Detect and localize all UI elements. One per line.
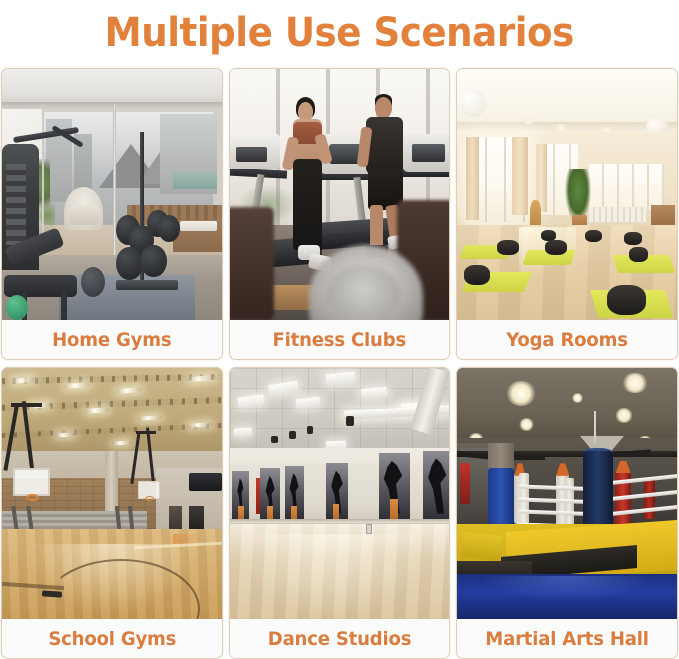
- martial-arts-hall-illustration: [457, 368, 677, 619]
- scenario-label-school-gyms: School Gyms: [2, 619, 222, 658]
- scenario-label-text: School Gyms: [48, 628, 176, 650]
- page-header: Multiple Use Scenarios: [0, 0, 679, 66]
- scenario-card-yoga-rooms[interactable]: Yoga Rooms: [456, 68, 678, 360]
- scenario-grid: Home Gyms: [0, 68, 679, 659]
- fitness-club-illustration: [230, 69, 450, 320]
- scenario-card-martial-arts-hall[interactable]: Martial Arts Hall: [456, 367, 678, 659]
- scenario-photo-martial-arts-hall: [457, 368, 677, 619]
- scenario-label-home-gyms: Home Gyms: [2, 320, 222, 359]
- scenario-card-dance-studios[interactable]: Dance Studios: [229, 367, 451, 659]
- page-title: Multiple Use Scenarios: [105, 13, 574, 53]
- scenario-card-school-gyms[interactable]: School Gyms: [1, 367, 223, 659]
- yoga-room-illustration: [457, 69, 677, 320]
- scenario-photo-home-gyms: [2, 69, 222, 320]
- scenario-card-home-gyms[interactable]: Home Gyms: [1, 68, 223, 360]
- scenario-label-text: Martial Arts Hall: [485, 628, 648, 650]
- scenario-label-fitness-clubs: Fitness Clubs: [230, 320, 450, 359]
- dance-studio-illustration: [230, 368, 450, 619]
- scenarios-page: Multiple Use Scenarios: [0, 0, 679, 659]
- scenario-photo-dance-studios: [230, 368, 450, 619]
- school-gym-illustration: [2, 368, 222, 619]
- scenario-label-text: Yoga Rooms: [506, 329, 628, 351]
- scenario-label-text: Home Gyms: [52, 329, 171, 351]
- scenario-label-text: Fitness Clubs: [273, 329, 406, 351]
- scenario-label-dance-studios: Dance Studios: [230, 619, 450, 658]
- scenario-photo-school-gyms: [2, 368, 222, 619]
- home-gym-illustration: [2, 69, 222, 320]
- scenario-photo-yoga-rooms: [457, 69, 677, 320]
- scenario-card-fitness-clubs[interactable]: Fitness Clubs: [229, 68, 451, 360]
- scenario-label-text: Dance Studios: [268, 628, 412, 650]
- scenario-photo-fitness-clubs: [230, 69, 450, 320]
- scenario-label-martial-arts-hall: Martial Arts Hall: [457, 619, 677, 658]
- scenario-label-yoga-rooms: Yoga Rooms: [457, 320, 677, 359]
